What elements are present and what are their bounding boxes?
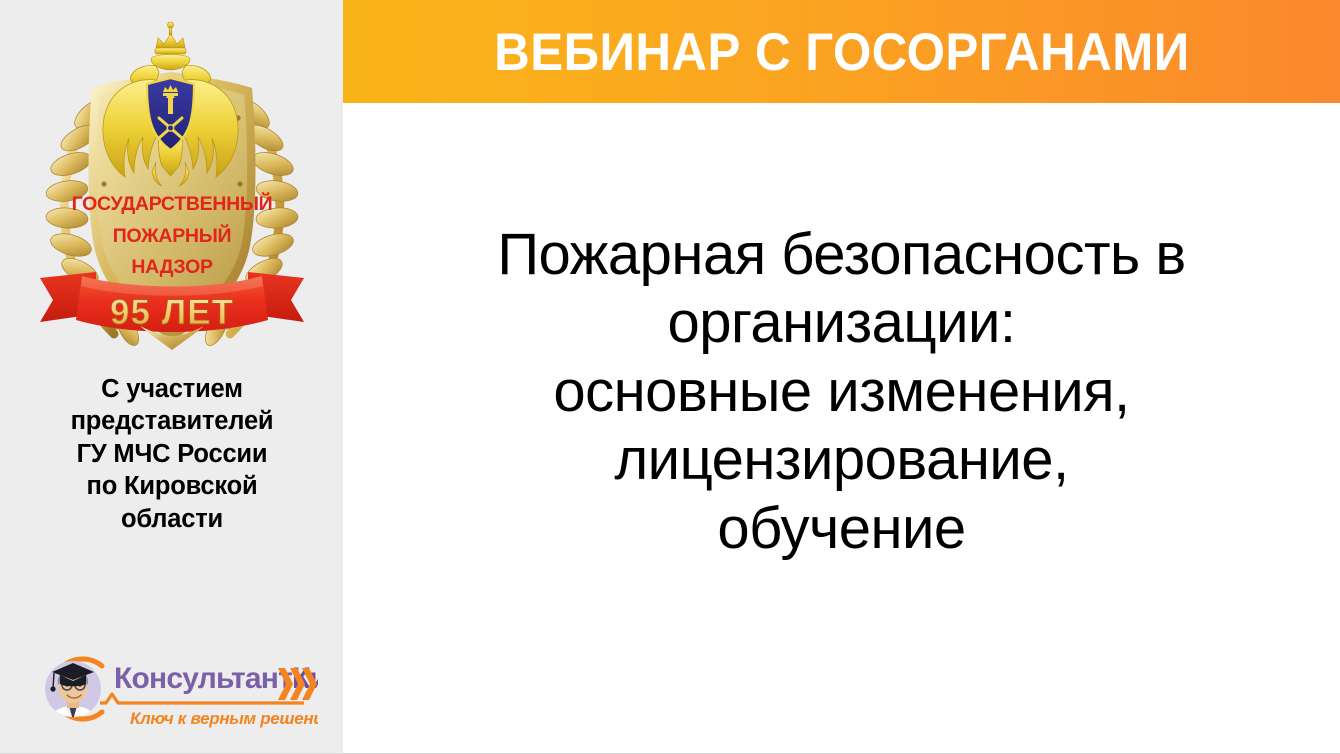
page-title: Пожарная безопасность в организации: осн…: [383, 221, 1300, 563]
banner-title: ВЕБИНАР С ГОСОРГАНАМИ: [494, 26, 1189, 79]
svg-text:ПОЖАРНЫЙ: ПОЖАРНЫЙ: [113, 223, 231, 247]
state-fire-supervision-emblem: ГОСУДАРСТВЕННЫЙ ПОЖАРНЫЙ НАДЗОР 95 ЛЕТ: [22, 14, 322, 362]
title-line-2: организации:: [383, 289, 1300, 357]
sidebar-caption-line-4: по Кировской: [6, 470, 338, 502]
title-line-3: основные изменения,: [383, 358, 1300, 426]
sidebar-caption-line-5: области: [6, 503, 338, 535]
sidebar-caption-line-1: С участием: [6, 373, 338, 405]
presentation-slide: ГОСУДАРСТВЕННЫЙ ПОЖАРНЫЙ НАДЗОР 95 ЛЕТ: [0, 0, 1340, 754]
main-content-area: Пожарная безопасность в организации: осн…: [343, 103, 1340, 754]
sidebar-caption: С участием представителей ГУ МЧС России …: [6, 373, 338, 535]
webinar-banner: ВЕБИНАР С ГОСОРГАНАМИ: [343, 0, 1340, 103]
title-line-4: лицензирование,: [383, 426, 1300, 494]
sidebar-caption-line-2: представителей: [6, 405, 338, 437]
left-sidebar: ГОСУДАРСТВЕННЫЙ ПОЖАРНЫЙ НАДЗОР 95 ЛЕТ: [0, 0, 343, 754]
konsultant-kirov-logo[interactable]: КонсультантКиров Ключ к верным решениям: [28, 646, 318, 732]
title-line-5: обучение: [383, 495, 1300, 563]
title-line-1: Пожарная безопасность в: [383, 221, 1300, 289]
logo-underline: [100, 694, 304, 703]
sidebar-caption-line-3: ГУ МЧС России: [6, 438, 338, 470]
svg-text:НАДЗОР: НАДЗОР: [131, 256, 213, 278]
double-headed-eagle: [103, 22, 238, 186]
svg-text:95 ЛЕТ: 95 ЛЕТ: [110, 293, 234, 332]
svg-text:ГОСУДАРСТВЕННЫЙ: ГОСУДАРСТВЕННЫЙ: [72, 191, 273, 215]
logo-tagline: Ключ к верным решениям: [130, 709, 318, 728]
